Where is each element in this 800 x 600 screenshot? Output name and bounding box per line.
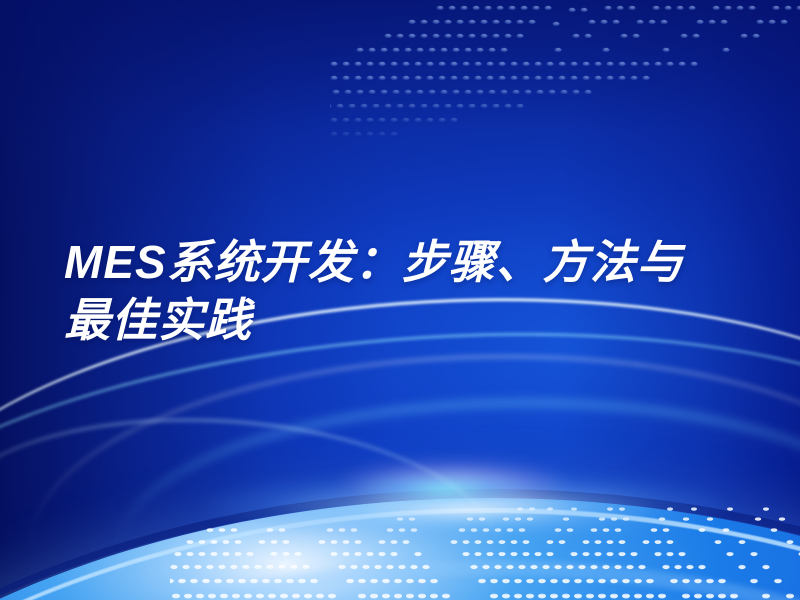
dotted-world-map-globe-icon: [170, 505, 800, 600]
banner-canvas: MES系统开发：步骤、方法与 最佳实践: [0, 0, 800, 600]
page-title-line-1: MES系统开发：步骤、方法与: [64, 233, 764, 291]
page-title: MES系统开发：步骤、方法与 最佳实践: [64, 233, 764, 349]
page-title-line-2: 最佳实践: [64, 291, 764, 349]
dotted-world-map-top-icon: [330, 0, 800, 240]
horizon-glow-pink: [300, 452, 640, 512]
